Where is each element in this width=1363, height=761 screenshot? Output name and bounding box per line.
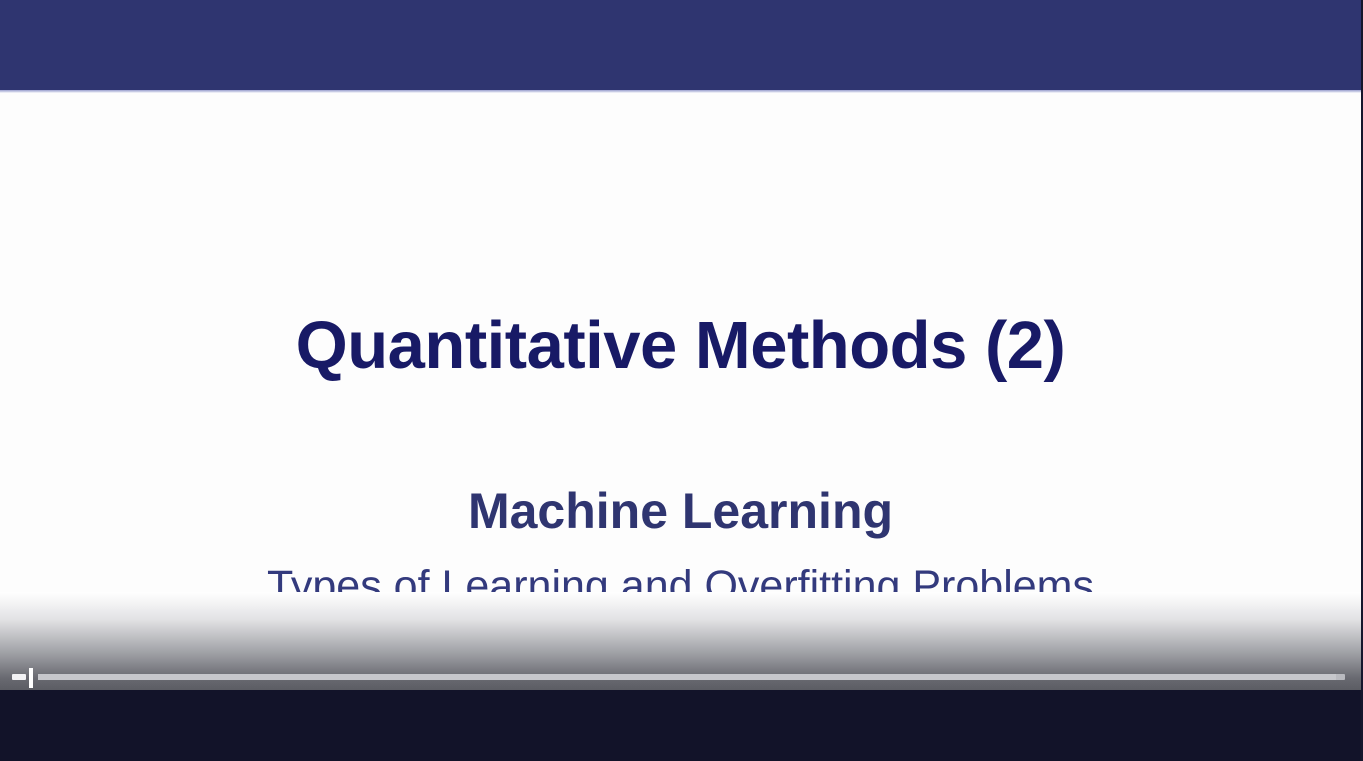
video-player: Quantitative Methods (2) Machine Learnin… [0, 0, 1363, 761]
progress-bar[interactable] [0, 668, 1361, 688]
control-bar: 10 10 0:09 / 19:01 KAPLAN® SCHWESER [0, 690, 1361, 761]
progress-buffered [38, 674, 1336, 680]
slide-header-band [0, 0, 1361, 90]
slide-subtitle: Machine Learning [0, 482, 1361, 540]
progress-played [12, 674, 26, 680]
slide-title: Quantitative Methods (2) [0, 307, 1361, 384]
progress-track[interactable] [38, 674, 1345, 680]
progress-handle[interactable] [29, 668, 33, 688]
